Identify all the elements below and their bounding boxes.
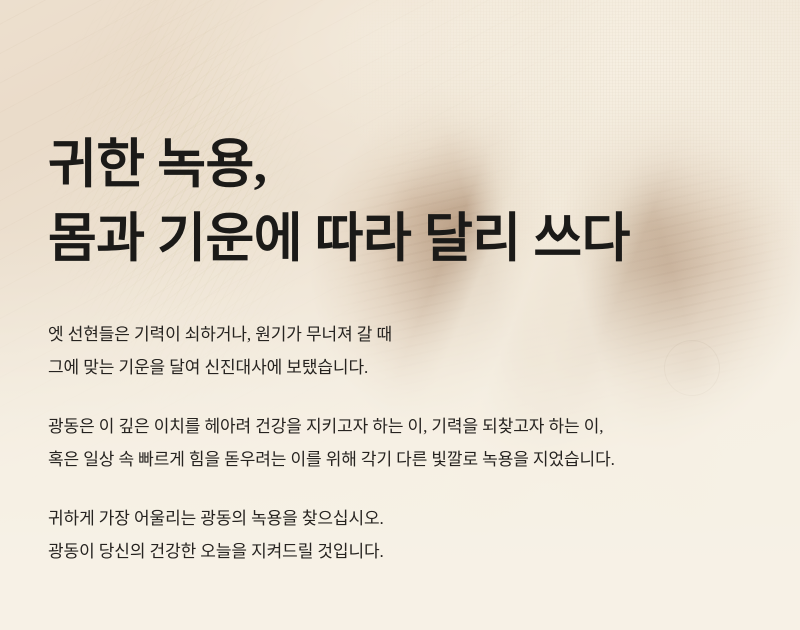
banner-headline: 귀한 녹용, 몸과 기운에 따라 달리 쓰다 [48, 128, 630, 276]
body-paragraph-closing: 귀하게 가장 어울리는 광동의 녹용을 찾으십시오. 광동이 당신의 건강한 오… [48, 502, 748, 568]
body-paragraph-intro: 엣 선현들은 기력이 쇠하거나, 원기가 무너져 갈 때 그에 맞는 기운을 달… [48, 318, 748, 384]
banner-body-copy: 엣 선현들은 기력이 쇠하거나, 원기가 무너져 갈 때 그에 맞는 기운을 달… [48, 318, 748, 568]
promo-banner: 귀한 녹용, 몸과 기운에 따라 달리 쓰다 엣 선현들은 기력이 쇠하거나, … [0, 0, 800, 630]
banner-content: 귀한 녹용, 몸과 기운에 따라 달리 쓰다 엣 선현들은 기력이 쇠하거나, … [0, 0, 800, 630]
body-paragraph-philosophy: 광동은 이 깊은 이치를 헤아려 건강을 지키고자 하는 이, 기력을 되찾고자… [48, 410, 748, 476]
